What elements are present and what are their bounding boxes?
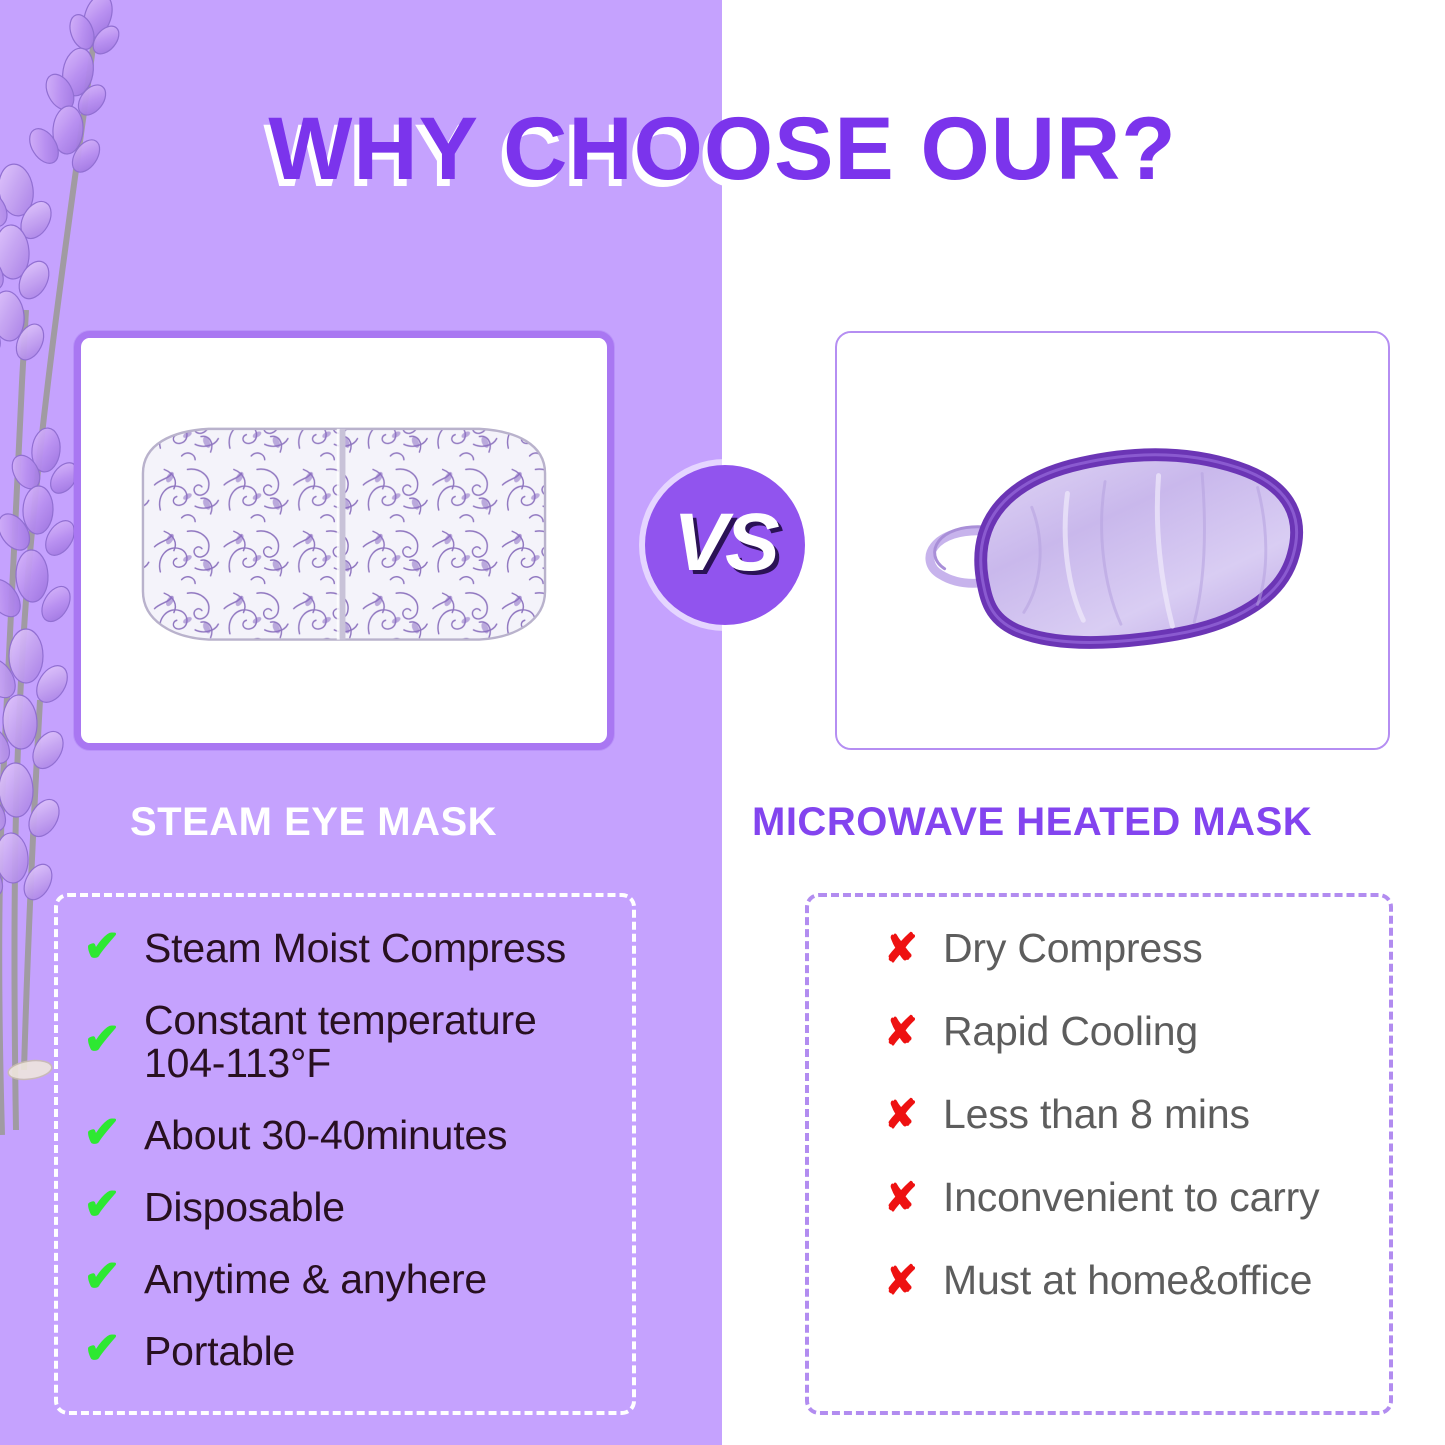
microwave-heated-mask-image	[837, 333, 1388, 748]
list-item: ✔ Anytime & anyhere	[82, 1257, 612, 1301]
steam-eye-mask-image	[81, 338, 607, 743]
product-card-steam-eye-mask[interactable]	[74, 331, 614, 750]
list-item: ✔ Constant temperature 104-113°F	[82, 999, 612, 1085]
list-item-label: Must at home&office	[943, 1259, 1312, 1302]
list-item: ✘ Dry Compress	[833, 927, 1369, 970]
list-item-label: Dry Compress	[943, 927, 1203, 970]
list-item: ✔ Disposable	[82, 1185, 612, 1229]
cross-icon: ✘	[881, 1012, 921, 1052]
list-item: ✔ Portable	[82, 1329, 612, 1373]
list-item-label: Less than 8 mins	[943, 1093, 1250, 1136]
list-item-label: Rapid Cooling	[943, 1010, 1198, 1053]
cross-icon: ✘	[881, 1095, 921, 1135]
column-heading-left: STEAM EYE MASK	[130, 800, 497, 845]
feature-list-steam-eye-mask: ✔ Steam Moist Compress ✔ Constant temper…	[54, 893, 636, 1415]
product-card-microwave-heated-mask[interactable]	[835, 331, 1390, 750]
list-item-label: Portable	[144, 1330, 295, 1373]
column-heading-right: MICROWAVE HEATED MASK	[752, 800, 1312, 845]
cross-icon: ✘	[881, 929, 921, 969]
check-icon: ✔	[82, 1018, 122, 1062]
list-item: ✘ Inconvenient to carry	[833, 1176, 1369, 1219]
list-item: ✔ Steam Moist Compress	[82, 927, 612, 971]
vs-label: VS	[673, 502, 776, 584]
page-title: WHY CHOOSE OUR?	[0, 97, 1445, 200]
list-item-label: About 30-40minutes	[144, 1114, 507, 1157]
list-item-label: Inconvenient to carry	[943, 1176, 1319, 1219]
list-item-label: Disposable	[144, 1186, 345, 1229]
list-item: ✔ About 30-40minutes	[82, 1113, 612, 1157]
list-item: ✘ Less than 8 mins	[833, 1093, 1369, 1136]
check-icon: ✔	[82, 1255, 122, 1299]
feature-list-microwave-heated-mask: ✘ Dry Compress ✘ Rapid Cooling ✘ Less th…	[805, 893, 1393, 1415]
vs-badge: VS	[645, 465, 805, 625]
cross-icon: ✘	[881, 1261, 921, 1301]
list-item-label: Steam Moist Compress	[144, 927, 566, 970]
list-item-label: Anytime & anyhere	[144, 1258, 487, 1301]
cross-icon: ✘	[881, 1178, 921, 1218]
check-icon: ✔	[82, 1183, 122, 1227]
check-icon: ✔	[82, 1327, 122, 1371]
list-item: ✘ Must at home&office	[833, 1259, 1369, 1302]
comparison-infographic: WHY CHOOSE OUR?	[0, 0, 1445, 1445]
list-item: ✘ Rapid Cooling	[833, 1010, 1369, 1053]
check-icon: ✔	[82, 1111, 122, 1155]
check-icon: ✔	[82, 925, 122, 969]
list-item-label: Constant temperature 104-113°F	[144, 999, 612, 1085]
